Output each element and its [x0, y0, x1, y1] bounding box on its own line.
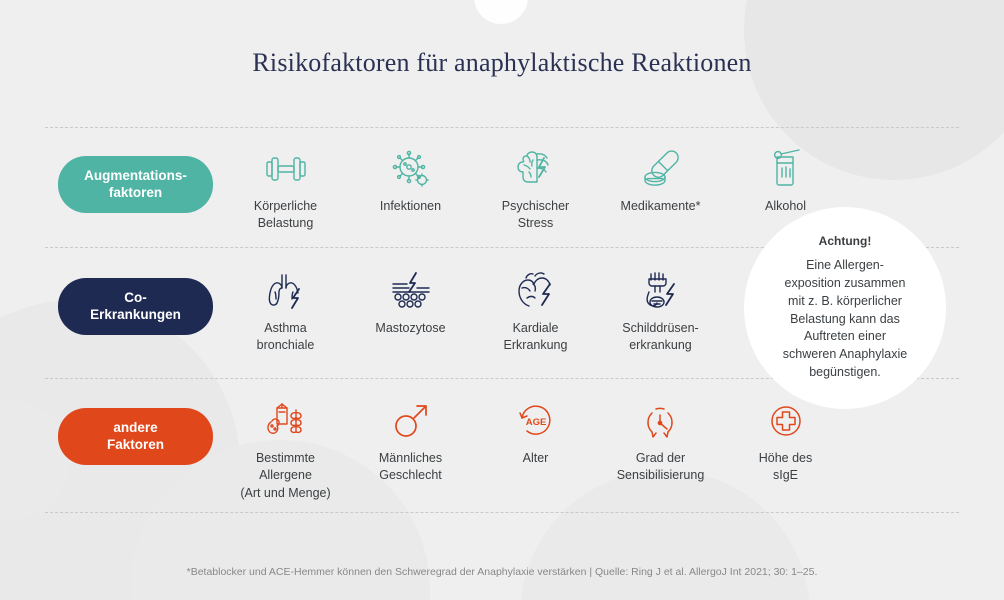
factor-alter[interactable]: AGE Alter: [473, 392, 598, 467]
factor-label-line-1: Alter: [473, 450, 598, 467]
badge-line-1: andere: [64, 419, 207, 436]
factor-grad-der-sensibilisierung[interactable]: Grad der Sensibilisierung: [598, 392, 723, 485]
factor-label-line-1: Asthma: [223, 320, 348, 337]
factor-label-line-1: Schilddrüsen-: [598, 320, 723, 337]
divider-top: [45, 127, 959, 128]
factor-maennliches-geschlecht[interactable]: Männliches Geschlecht: [348, 392, 473, 485]
lungs-bolt-icon: [223, 262, 348, 320]
warning-callout: Achtung! Eine Allergen- exposition zusam…: [744, 207, 946, 409]
factor-label-line-2: Stress: [473, 215, 598, 232]
factor-schilddruesenerkrankung[interactable]: Schilddrüsen- erkrankung: [598, 262, 723, 355]
callout-line-1: Eine Allergen-: [783, 257, 907, 275]
age-circle-icon: AGE: [473, 392, 598, 450]
factor-label-line-1: Männliches: [348, 450, 473, 467]
factor-label-line-2: sIgE: [723, 467, 848, 484]
thyroid-bolt-icon: [598, 262, 723, 320]
allergens-icon: [223, 392, 348, 450]
factor-mastozytose[interactable]: Mastozytose: [348, 262, 473, 337]
page-title: Risikofaktoren für anaphylaktische Reakt…: [0, 48, 1004, 78]
factor-label-line-2: bronchiale: [223, 337, 348, 354]
svg-text:AGE: AGE: [525, 417, 546, 428]
factor-infektionen[interactable]: Infektionen: [348, 140, 473, 215]
factor-label-line-1: Psychischer: [473, 198, 598, 215]
infographic-sheet: Risikofaktoren für anaphylaktische Reakt…: [0, 0, 1004, 600]
factor-psychischer-stress[interactable]: Psychischer Stress: [473, 140, 598, 233]
callout-line-6: schweren Anaphylaxie: [783, 346, 907, 364]
factor-label-line-1: Körperliche: [223, 198, 348, 215]
footnote: *Betablocker und ACE-Hemmer können den S…: [0, 566, 1004, 578]
factor-koerperliche-belastung[interactable]: Körperliche Belastung: [223, 140, 348, 233]
factor-label-line-1: Kardiale: [473, 320, 598, 337]
row-andere-faktoren: andere Faktoren: [45, 392, 959, 510]
callout-line-7: begünstigen.: [783, 364, 907, 382]
factor-kardiale-erkrankung[interactable]: Kardiale Erkrankung: [473, 262, 598, 355]
factor-label-line-1: Infektionen: [348, 198, 473, 215]
factor-label-line-2: Allergene: [223, 467, 348, 484]
badge-line-2: Erkrankungen: [64, 306, 207, 323]
factor-label-line-1: Medikamente*: [598, 198, 723, 215]
heart-bolt-icon: [473, 262, 598, 320]
factor-medikamente[interactable]: Medikamente*: [598, 140, 723, 215]
gauge-icon: [598, 392, 723, 450]
factor-label-line-2: erkrankung: [598, 337, 723, 354]
callout-title: Achtung!: [819, 234, 872, 248]
factor-label-line-1: Mastozytose: [348, 320, 473, 337]
pills-icon: [598, 140, 723, 198]
dumbbell-icon: [223, 140, 348, 198]
mast-cells-icon: [348, 262, 473, 320]
factor-label-line-2: Erkrankung: [473, 337, 598, 354]
badge-line-1: Co-: [64, 289, 207, 306]
factor-label-line-1: Höhe des: [723, 450, 848, 467]
cocktail-glass-icon: [723, 140, 848, 198]
factor-label-line-2: Belastung: [223, 215, 348, 232]
callout-line-5: Auftreten einer: [783, 328, 907, 346]
category-badge-andere-faktoren[interactable]: andere Faktoren: [58, 408, 213, 465]
brain-stress-icon: [473, 140, 598, 198]
factor-label-line-2: Geschlecht: [348, 467, 473, 484]
category-badge-augmentationsfaktoren[interactable]: Augmentations- faktoren: [58, 156, 213, 213]
callout-body: Eine Allergen- exposition zusammen mit z…: [783, 257, 907, 381]
factor-label-line-1: Grad der: [598, 450, 723, 467]
virus-icon: [348, 140, 473, 198]
male-gender-icon: [348, 392, 473, 450]
badge-line-2: faktoren: [64, 184, 207, 201]
factor-label-line-2: Sensibilisierung: [598, 467, 723, 484]
factor-alkohol[interactable]: Alkohol: [723, 140, 848, 215]
factor-label-line-1: Bestimmte: [223, 450, 348, 467]
callout-line-4: Belastung kann das: [783, 311, 907, 329]
callout-line-3: mit z. B. körperlicher: [783, 293, 907, 311]
callout-line-2: exposition zusammen: [783, 275, 907, 293]
badge-line-1: Augmentations-: [64, 167, 207, 184]
factor-label-line-3: (Art und Menge): [223, 485, 348, 502]
badge-line-2: Faktoren: [64, 436, 207, 453]
factor-asthma-bronchiale[interactable]: Asthma bronchiale: [223, 262, 348, 355]
factor-bestimmte-allergene[interactable]: Bestimmte Allergene (Art und Menge): [223, 392, 348, 502]
category-badge-co-erkrankungen[interactable]: Co- Erkrankungen: [58, 278, 213, 335]
divider-bottom: [45, 512, 959, 513]
